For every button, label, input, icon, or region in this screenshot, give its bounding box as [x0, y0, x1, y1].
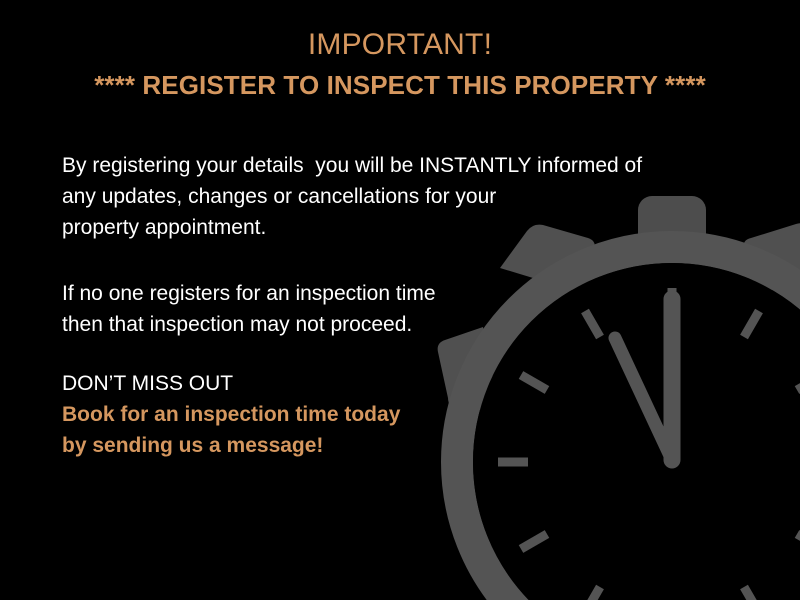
headline-block: IMPORTANT! **** REGISTER TO INSPECT THIS…	[0, 26, 800, 102]
cta-book-inspection: Book for an inspection time today	[62, 399, 400, 430]
slide-canvas: IMPORTANT! **** REGISTER TO INSPECT THIS…	[0, 0, 800, 600]
text-layer: IMPORTANT! **** REGISTER TO INSPECT THIS…	[0, 0, 800, 600]
paragraph-registering-details: By registering your details you will be …	[62, 150, 642, 243]
paragraph-no-registrations: If no one registers for an inspection ti…	[62, 278, 436, 340]
cta-dont-miss-out: DON’T MISS OUT	[62, 368, 400, 399]
cta-send-message: by sending us a message!	[62, 430, 400, 461]
headline-register-to-inspect: **** REGISTER TO INSPECT THIS PROPERTY *…	[0, 68, 800, 102]
cta-block: DON’T MISS OUT Book for an inspection ti…	[62, 368, 400, 461]
headline-important: IMPORTANT!	[0, 26, 800, 64]
body-block: By registering your details you will be …	[62, 150, 742, 530]
